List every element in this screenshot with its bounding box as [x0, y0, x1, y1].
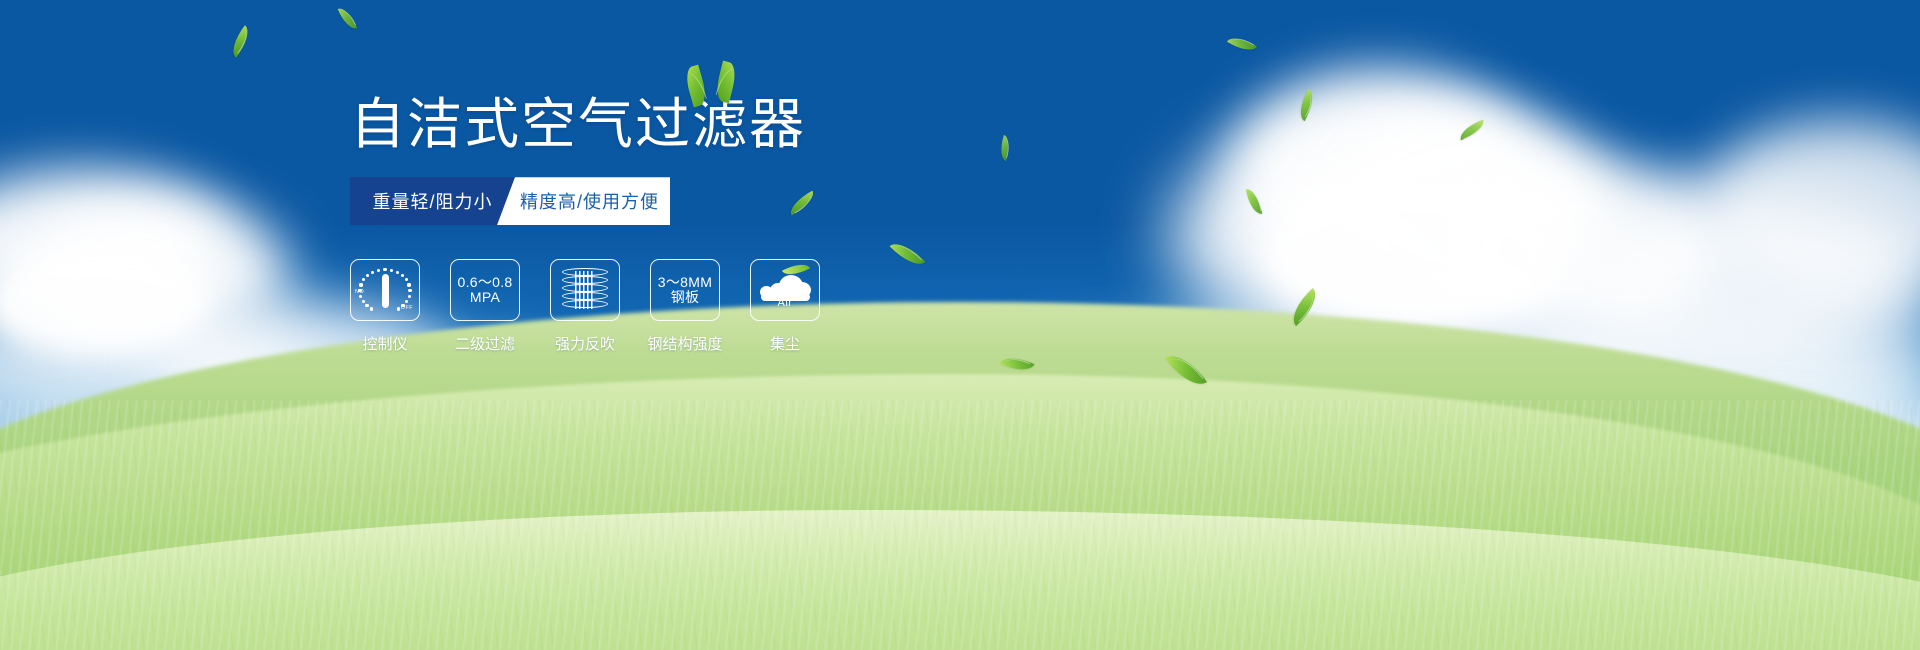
feature-caption: 控制仪 — [362, 333, 407, 354]
feature-icon-box: 0.6～0.8 MPA — [450, 259, 520, 321]
dial-on-label: NO — [355, 289, 364, 295]
feature-icon-box: 3～8MM 钢板 — [650, 259, 720, 321]
pressure-value-line1: 0.6～0.8 — [457, 275, 512, 291]
feature-item-back-blow[interactable]: 强力反吹 — [550, 259, 620, 354]
air-cloud-icon: Air — [759, 273, 811, 307]
product-banner: 自洁式空气过滤器 重量轻/阻力小 精度高/使用方便 — [0, 0, 1920, 650]
tab-weight-resistance[interactable]: 重量轻/阻力小 — [350, 177, 515, 225]
page-title: 自洁式空气过滤器 — [350, 96, 1090, 153]
leaf-icon — [713, 61, 738, 104]
feature-icon-box: Air — [750, 259, 820, 321]
tab-precision-convenience[interactable]: 精度高/使用方便 — [497, 177, 670, 225]
feature-caption: 集尘 — [770, 333, 800, 354]
feature-item-steel-strength[interactable]: 3～8MM 钢板 钢结构强度 — [650, 259, 720, 354]
tab-label: 重量轻/阻力小 — [372, 188, 492, 214]
filter-coil-icon — [562, 267, 608, 313]
feature-item-two-stage-filter[interactable]: 0.6～0.8 MPA 二级过滤 — [450, 259, 520, 354]
dial-off-label: OFF — [401, 305, 413, 311]
feature-icon-box: NO OFF — [350, 259, 420, 321]
air-label: Air — [759, 297, 811, 309]
feature-item-dust-collection[interactable]: Air 集尘 — [750, 259, 820, 354]
dial-needle — [382, 274, 389, 308]
banner-content: 自洁式空气过滤器 重量轻/阻力小 精度高/使用方便 — [350, 96, 1090, 354]
pressure-value-line2: MPA — [470, 290, 500, 306]
feature-icon-row: NO OFF 控制仪 0.6～0.8 MPA 二级过滤 — [350, 259, 1090, 354]
feature-caption: 强力反吹 — [555, 333, 615, 354]
feature-tabs: 重量轻/阻力小 精度高/使用方便 — [350, 177, 670, 225]
grass-texture — [0, 400, 1920, 650]
control-dial-icon: NO OFF — [358, 267, 412, 313]
leaf-icon — [683, 65, 709, 108]
feature-caption: 二级过滤 — [455, 333, 515, 354]
title-leaf-decoration — [686, 62, 746, 106]
steel-thickness-line1: 3～8MM — [658, 275, 712, 291]
tab-label: 精度高/使用方便 — [520, 188, 659, 214]
feature-item-controller[interactable]: NO OFF 控制仪 — [350, 259, 420, 354]
feature-caption: 钢结构强度 — [648, 333, 723, 354]
steel-thickness-line2: 钢板 — [671, 290, 700, 306]
feature-icon-box — [550, 259, 620, 321]
